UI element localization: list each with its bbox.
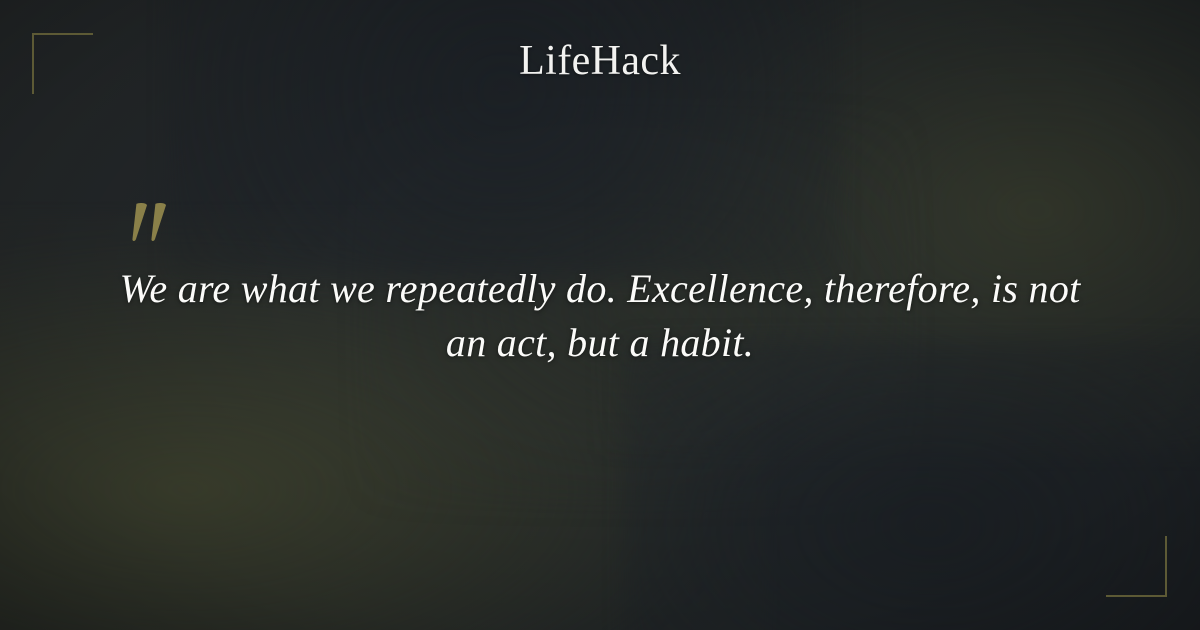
corner-bracket-bottom-right-icon [1106,536,1167,597]
quote-card: LifeHack We are what we repeatedly do. E… [0,0,1200,630]
quote-mark-stroke-first [127,203,147,241]
quote-block: We are what we repeatedly do. Excellence… [100,262,1100,370]
brand-logo: LifeHack [0,38,1200,84]
quote-open-mark-icon [131,203,175,245]
quote-text: We are what we repeatedly do. Excellence… [100,262,1100,370]
quote-mark-stroke-second [146,203,166,241]
